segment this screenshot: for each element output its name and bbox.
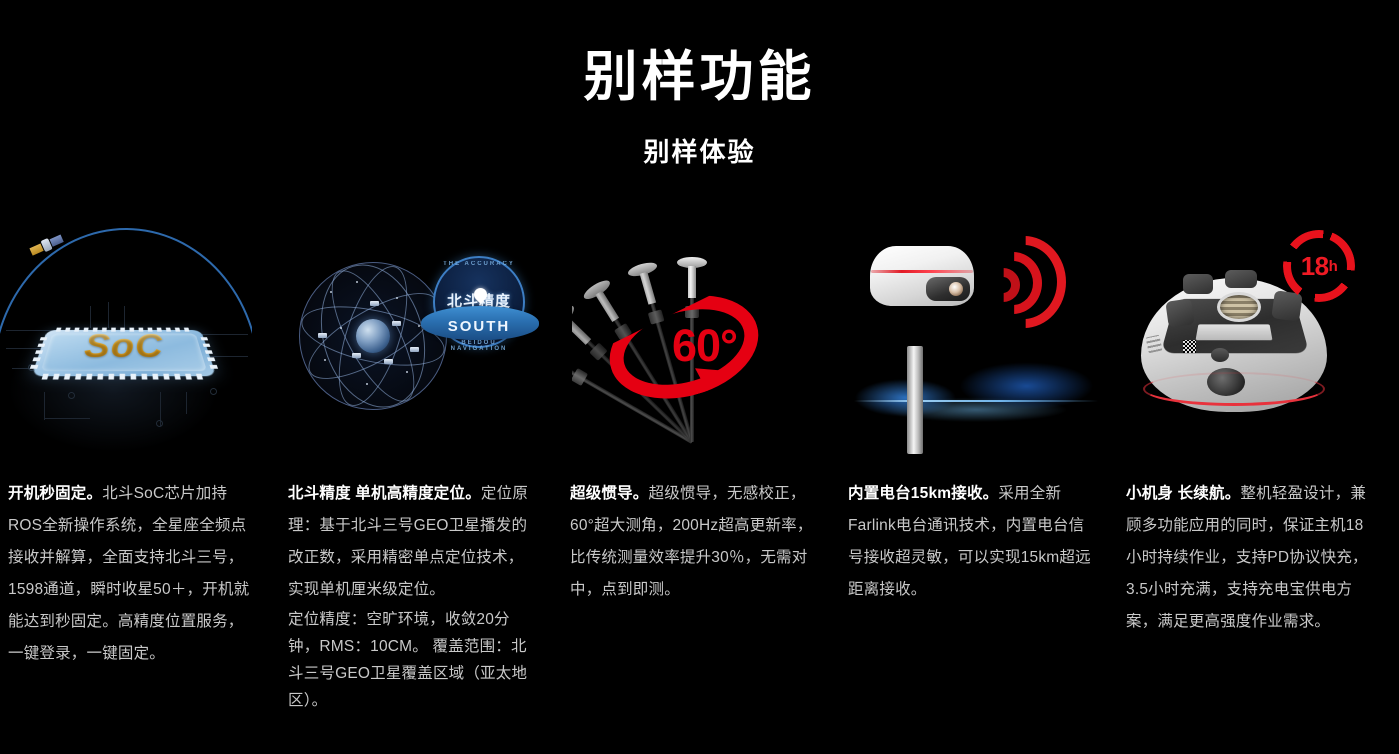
feature-card-accuracy: THE ACCURACY 北斗精度 SOUTH BEIDOU NAVIGATIO… [280,222,560,742]
feature-description-soc: 开机秒固定。北斗SoC芯片加持ROS全新操作系统，全星座全频点接收并解算，全面支… [8,478,253,670]
feature-description-tilt: 超级惯导。超级惯导，无感校正，60°超大测角，200Hz超高更新率，比传统测量效… [570,478,815,606]
badge-brand-text: SOUTH [433,318,525,335]
feature-heading: 小机身 长续航。 [1126,485,1240,502]
feature-columns: SoC 开机秒固定。北斗SoC芯片加持ROS全新操作系统，全星座全频点接收并解算… [0,222,1399,742]
feature-extra: 定位精度：空旷环境，收敛20分钟，RMS：10CM。 覆盖范围：北斗三号GEO卫… [288,606,533,714]
pcb-trace-icon [186,392,187,414]
feature-card-tilt: 60° 超级惯导。超级惯导，无感校正，60°超大测角，200Hz超高更新率，比传… [560,222,840,742]
base-red-ring [1143,372,1325,406]
feature-description-accuracy: 北斗精度 单机高精度定位。定位原理：基于北斗三号GEO卫星播发的改正数，采用精密… [288,478,533,714]
pcb-pad-icon [68,392,75,399]
receiver-lens-icon [926,277,970,301]
feature-card-radio: 内置电台15km接收。采用全新Farlink电台通讯技术，内置电台信号接收超灵敏… [840,222,1117,742]
satellite-node-icon [352,353,361,358]
battery-hours-text: 18h [1283,230,1355,302]
feature-card-soc: SoC 开机秒固定。北斗SoC芯片加持ROS全新操作系统，全星座全频点接收并解算… [0,222,280,742]
mount-thread-icon [1217,292,1261,322]
base-pad-icon [1165,298,1194,327]
receiver-pole-icon [907,346,923,454]
beidou-accuracy-badge: THE ACCURACY 北斗精度 SOUTH BEIDOU NAVIGATIO… [421,254,539,366]
receiver-red-band [871,270,973,273]
base-pad-icon [1183,274,1213,294]
hours-value: 18 [1301,251,1329,282]
battery-base-illustration: 18h [1125,222,1377,454]
tilt-angle-illustration: 60° [572,222,824,454]
satellite-node-icon [318,333,327,338]
feature-section-page: 别样功能 别样体验 [0,0,1399,754]
battery-hours-badge: 18h [1283,230,1355,302]
satellite-node-icon [392,321,401,326]
soc-chip-label: SoC [38,329,209,366]
pcb-pad-icon [210,388,217,395]
constellation-illustration: THE ACCURACY 北斗精度 SOUTH BEIDOU NAVIGATIO… [293,222,545,454]
feature-heading: 超级惯导。 [570,485,649,502]
satellite-node-icon [384,359,393,364]
hours-unit: h [1329,258,1338,275]
badge-arc-top-text: THE ACCURACY [433,261,525,267]
signal-wave-graphic [850,352,1102,426]
product-label [1196,324,1273,340]
feature-body: 北斗SoC芯片加持ROS全新操作系统，全星座全频点接收并解算，全面支持北斗三号，… [8,485,249,662]
feature-description-battery: 小机身 长续航。整机轻盈设计，兼顾多功能应用的同时，保证主机18小时持续作业，支… [1126,478,1371,638]
feature-heading: 开机秒固定。 [8,485,102,502]
pcb-pad-icon [156,420,163,427]
qr-code-icon [1183,340,1196,353]
base-pad-icon [1225,270,1257,288]
vent-icon [1145,335,1162,354]
satellite-node-icon [410,347,419,352]
feature-body: 整机轻盈设计，兼顾多功能应用的同时，保证主机18小时持续作业，支持PD协议快充，… [1126,485,1368,630]
pcb-trace-icon [44,392,45,420]
feature-heading: 内置电台15km接收。 [848,485,998,502]
pcb-trace-icon [44,418,90,419]
feature-heading: 北斗精度 单机高精度定位。 [288,485,481,502]
soc-chip-illustration: SoC [0,222,252,454]
page-title: 别样功能 [0,48,1399,107]
feature-description-radio: 内置电台15km接收。采用全新Farlink电台通讯技术，内置电台信号接收超灵敏… [848,478,1093,606]
satellite-node-icon [370,301,379,306]
tilt-angle-label: 60° [672,320,737,372]
receiver-radio-illustration [850,222,1102,454]
earth-icon [356,319,390,353]
power-button-icon [1211,348,1229,362]
horizon-line [854,400,1098,402]
badge-arc-bottom-text: BEIDOU NAVIGATION [433,340,525,352]
page-subtitle: 别样体验 [0,132,1399,169]
feature-card-battery: 18h 小机身 长续航。整机轻盈设计，兼顾多功能应用的同时，保证主机18小时持续… [1117,222,1399,742]
